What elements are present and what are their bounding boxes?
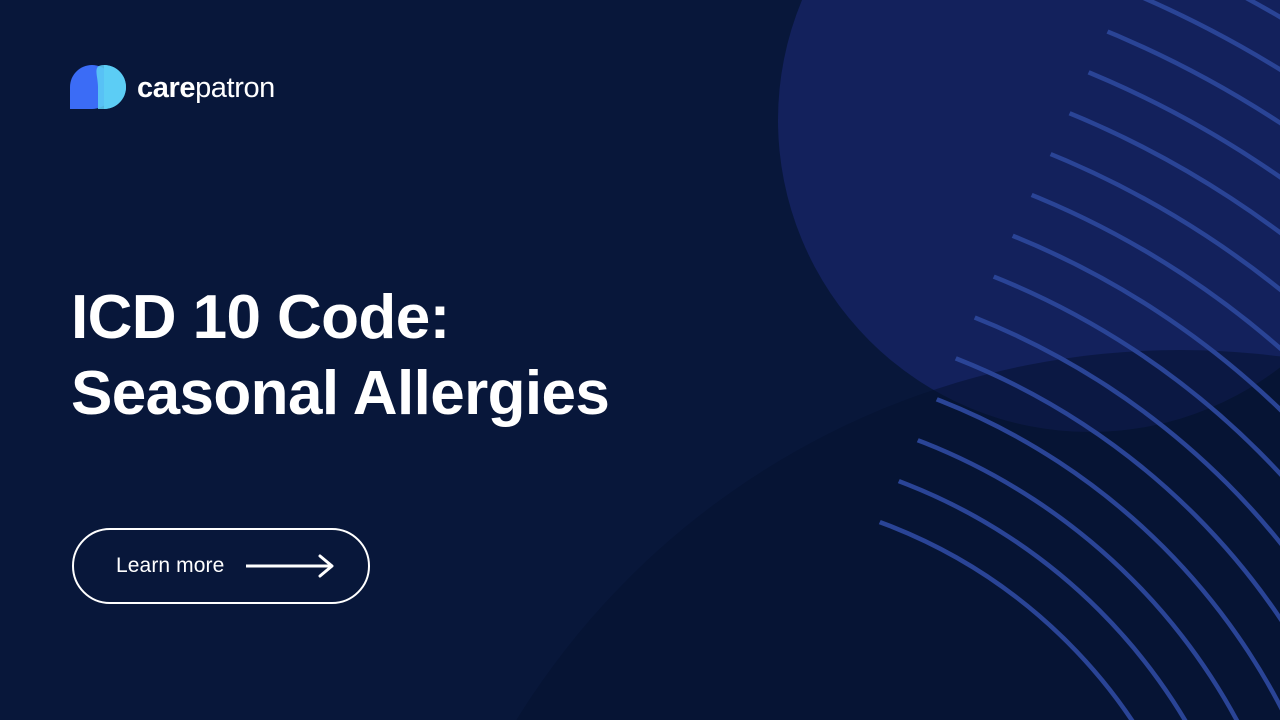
page-title: ICD 10 Code: Seasonal Allergies [71, 280, 731, 432]
wordmark-bold: care [137, 72, 195, 104]
title-line-1: ICD 10 Code: [71, 280, 731, 356]
learn-more-label: Learn more [116, 554, 224, 578]
carepatron-logo[interactable]: carepatron [70, 63, 275, 111]
carepatron-wordmark: carepatron [137, 74, 275, 103]
learn-more-button[interactable]: Learn more [72, 528, 370, 604]
carepatron-logo-mark [70, 65, 126, 109]
wordmark-light: patron [195, 72, 275, 104]
arrow-right-icon [244, 553, 338, 579]
title-line-2: Seasonal Allergies [71, 356, 731, 432]
carepatron-hero-banner: carepatron ICD 10 Code: Seasonal Allergi… [0, 0, 1280, 720]
